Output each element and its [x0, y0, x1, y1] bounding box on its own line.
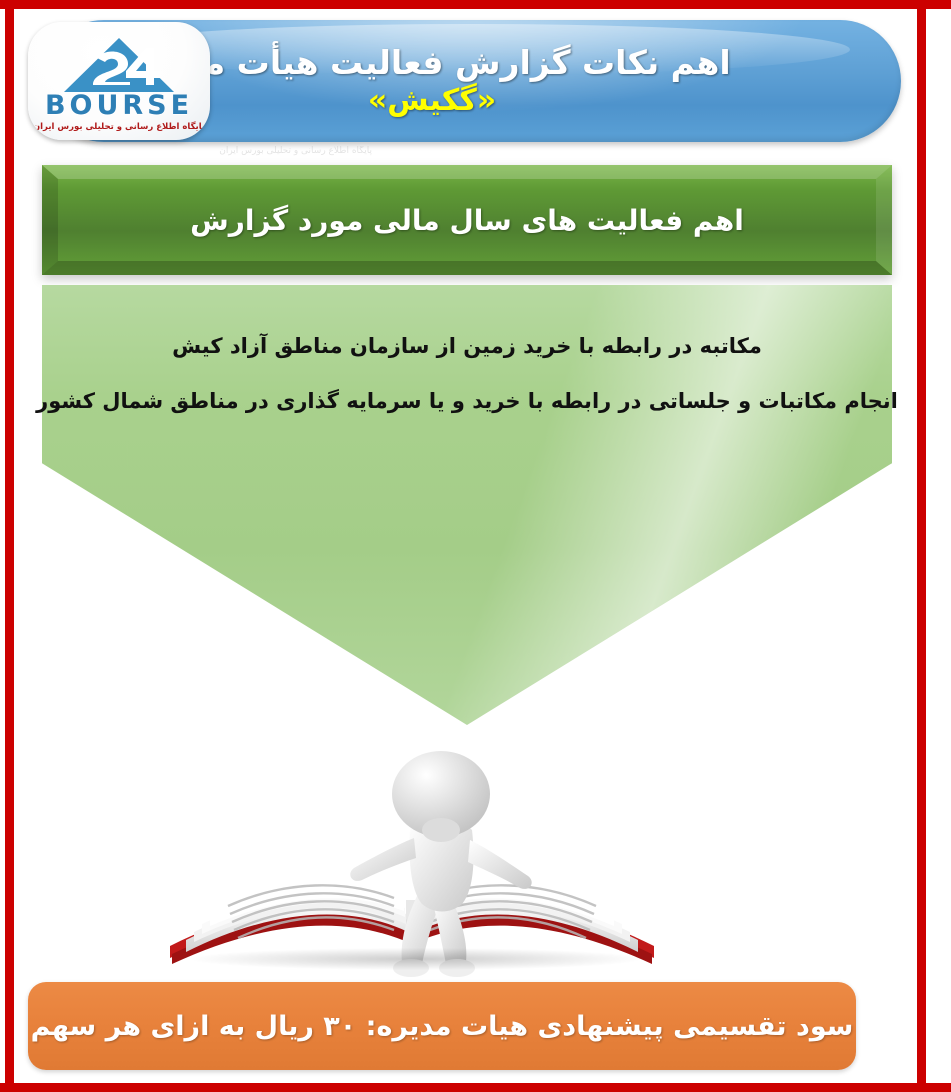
- illustration-ground-shadow: [192, 948, 640, 970]
- page-title: اهم نکات گزارش فعالیت هیأت مدیره: [133, 44, 730, 82]
- border-frame-left: [5, 0, 14, 1092]
- section-heading: اهم فعالیت های سال مالی مورد گزارش: [42, 165, 892, 275]
- section-header-bar: اهم فعالیت های سال مالی مورد گزارش: [42, 165, 892, 275]
- bullet-line-1: مکاتبه در رابطه با خرید زمین از سازمان م…: [172, 332, 762, 361]
- page-subtitle: «گکیش»: [368, 84, 496, 119]
- logo-tagline: پایگاه اطلاع رسانی و تحلیلی بورس ایران: [33, 122, 205, 132]
- footer-banner: سود تقسیمی پیشنهادی هیات مدیره: ۳۰ ریال …: [28, 982, 856, 1070]
- border-frame-right: [917, 0, 926, 1092]
- bullet-line-2: انجام مکاتبات و جلساتی در رابطه با خرید …: [36, 387, 898, 416]
- slide-page: اهم نکات گزارش فعالیت هیأت مدیره «گکیش» …: [0, 0, 951, 1092]
- content-text-group: مکاتبه در رابطه با خرید زمین از سازمان م…: [42, 285, 892, 463]
- content-arrow-block: مکاتبه در رابطه با خرید زمین از سازمان م…: [42, 285, 892, 725]
- watermark-text: پایگاه اطلاع رسانی و تحلیلی بورس ایران: [52, 146, 372, 160]
- logo-wordmark: BOURSE: [45, 92, 193, 119]
- dividend-statement: سود تقسیمی پیشنهادی هیات مدیره: ۳۰ ریال …: [31, 1011, 854, 1042]
- reading-illustration: [150, 718, 680, 986]
- logo-triangle-24-icon: [60, 35, 178, 95]
- bourse24-logo[interactable]: BOURSE پایگاه اطلاع رسانی و تحلیلی بورس …: [28, 22, 210, 140]
- open-book-with-figure-icon: [150, 718, 680, 986]
- border-frame-top: [0, 0, 951, 9]
- border-frame-bottom: [0, 1083, 951, 1092]
